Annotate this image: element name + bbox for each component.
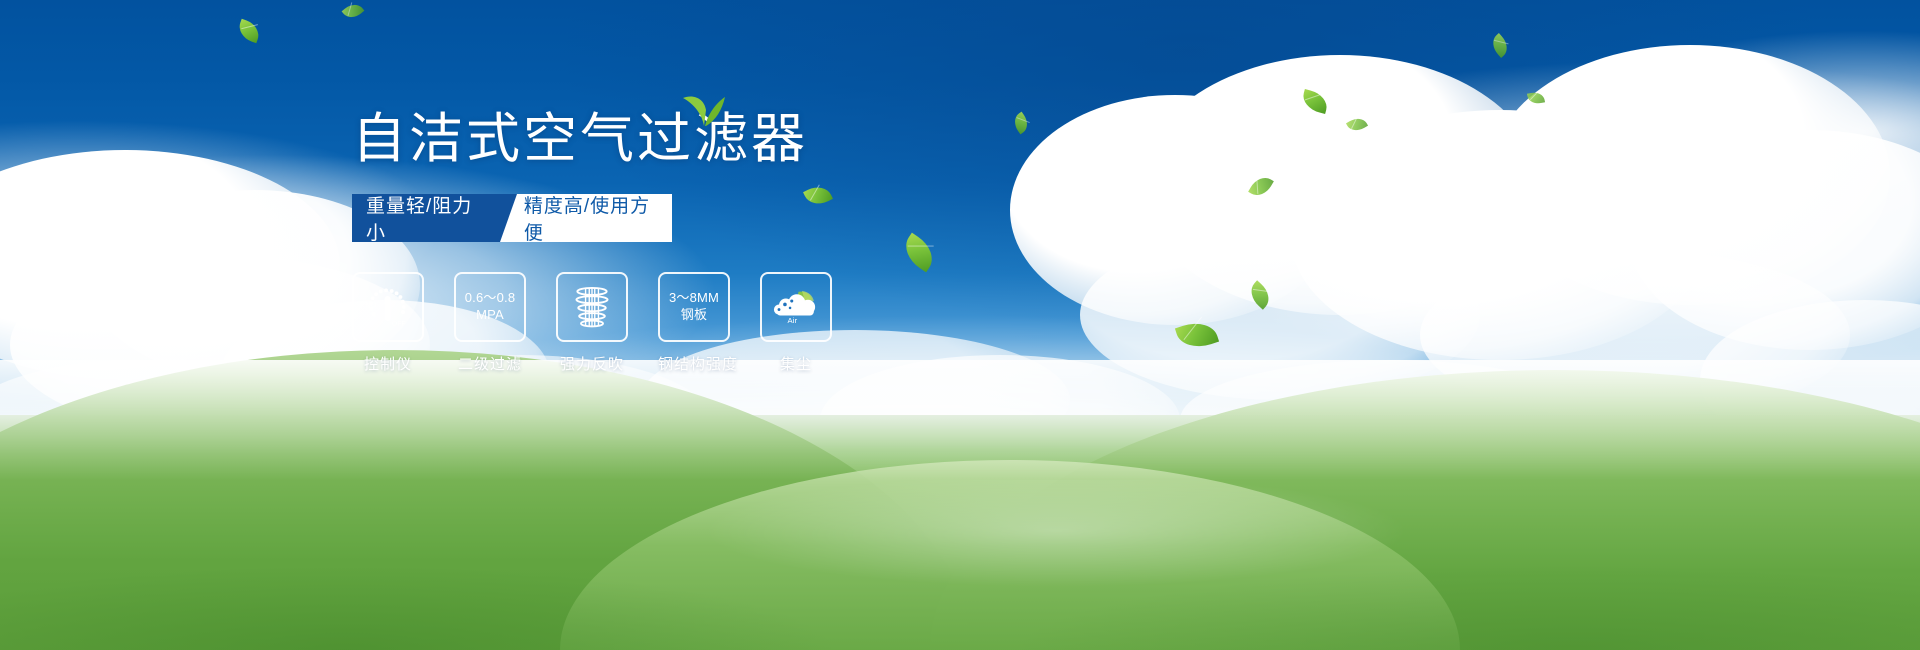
dial-on-label: NO <box>365 300 376 309</box>
feature-icon-box: NO OFF <box>352 272 424 342</box>
steel-thickness-text: 3～8MM <box>669 290 719 306</box>
feature-label: 强力反吹 <box>556 353 628 374</box>
feature-label: 二级过滤 <box>454 353 526 374</box>
coil-spring-icon <box>570 283 614 331</box>
feature-icon-box <box>556 272 628 342</box>
feature-item[interactable]: 0.6～0.8 MPA 二级过滤 <box>454 272 526 374</box>
pressure-range-text: 0.6～0.8 <box>465 290 516 306</box>
floating-leaf <box>1175 317 1219 353</box>
feature-label: 钢结构强度 <box>658 353 730 374</box>
tagline-secondary: 精度高/使用方便 <box>498 194 672 242</box>
dial-off-label: OFF <box>392 320 406 327</box>
pressure-unit-text: MPA <box>476 307 504 323</box>
tagline-primary: 重量轻/阻力小 <box>352 194 500 242</box>
cloud-shape <box>1290 110 1710 360</box>
feature-label: 集尘 <box>760 353 832 374</box>
cloud-shape <box>0 150 340 380</box>
floating-leaf <box>1245 280 1275 309</box>
floating-leaf <box>1248 173 1274 201</box>
title-leaf-icon <box>682 92 726 126</box>
feature-icon-box: 3～8MM 钢板 <box>658 272 730 342</box>
cloud-shape <box>1630 130 1920 350</box>
feature-list: NO OFF 控制仪 0.6～0.8 MPA 二级过滤 <box>352 272 1052 374</box>
feature-icon-box: 0.6～0.8 MPA <box>454 272 526 342</box>
grass-shading <box>0 480 1920 650</box>
air-caption: Air <box>788 316 798 324</box>
floating-leaf <box>1527 90 1545 105</box>
cloud-shape <box>1080 230 1480 400</box>
feature-item[interactable]: NO OFF 控制仪 <box>352 272 424 374</box>
feature-item[interactable]: Air 集尘 <box>760 272 832 374</box>
floating-leaf <box>1488 33 1513 58</box>
floating-leaf <box>236 19 263 43</box>
floating-leaf <box>342 0 365 22</box>
hill-shape <box>930 370 1920 650</box>
cloud-shape <box>1010 95 1340 325</box>
cloud-shape <box>1490 45 1890 305</box>
hill-shape <box>0 350 970 650</box>
tagline-badge: 重量轻/阻力小 精度高/使用方便 <box>352 194 672 242</box>
hill-shape <box>560 460 1460 650</box>
dust-cloud-air-icon: Air <box>771 290 821 324</box>
feature-item[interactable]: 3～8MM 钢板 钢结构强度 <box>658 272 730 374</box>
steel-material-text: 钢板 <box>681 307 707 323</box>
cloud-shape <box>1140 55 1540 315</box>
control-dial-icon: NO OFF <box>361 282 415 332</box>
floating-leaf <box>1346 114 1368 134</box>
feature-item[interactable]: 强力反吹 <box>556 272 628 374</box>
feature-icon-box: Air <box>760 272 832 342</box>
banner-content: 自洁式空气过滤器 重量轻/阻力小 精度高/使用方便 <box>352 108 1052 374</box>
floating-leaf <box>1300 89 1330 114</box>
grass-field <box>0 415 1920 650</box>
product-banner: 自洁式空气过滤器 重量轻/阻力小 精度高/使用方便 <box>0 0 1920 650</box>
feature-label: 控制仪 <box>352 353 424 374</box>
cloud-shape <box>1420 250 1850 420</box>
